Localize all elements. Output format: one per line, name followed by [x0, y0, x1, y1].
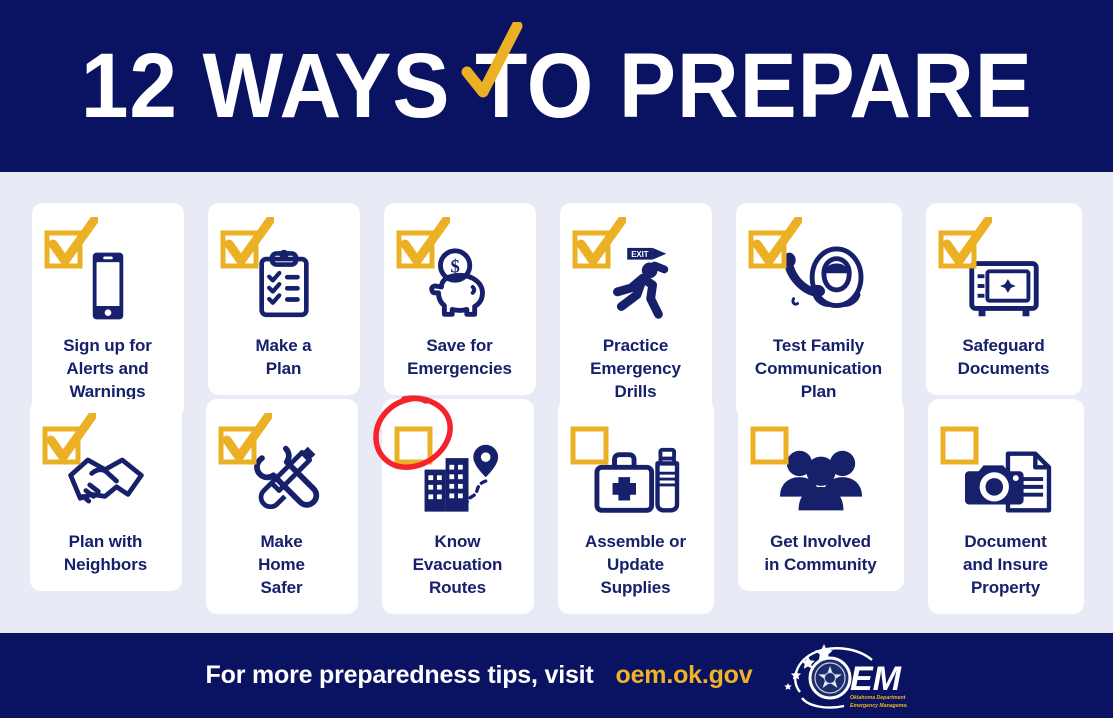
footer-banner: For more preparedness tips, visit oem.ok… — [0, 633, 1113, 718]
card-make-a-plan[interactable]: Make a Plan — [208, 203, 360, 395]
footer-url-link[interactable]: oem.ok.gov — [616, 661, 753, 690]
card-label: Make Home Safer — [258, 531, 305, 600]
card-label: Save for Emergencies — [407, 335, 512, 381]
cards-row-1: Sign up for Alerts and Warnings — [0, 203, 1113, 418]
cards-grid: Sign up for Alerts and Warnings — [0, 172, 1113, 633]
card-label: Document and Insure Property — [963, 531, 1048, 600]
phone-person-icon — [769, 243, 869, 329]
logo-tagline-2: Emergency Management — [850, 703, 907, 709]
card-label: Know Evacuation Routes — [413, 531, 503, 600]
card-sign-up-alerts[interactable]: Sign up for Alerts and Warnings — [32, 203, 184, 418]
svg-text:EM: EM — [850, 660, 902, 698]
card-save-for-emergencies[interactable]: $ Save for Emergencies — [384, 203, 536, 395]
card-plan-with-neighbors[interactable]: Plan with Neighbors — [30, 399, 182, 591]
handshake-icon — [63, 439, 149, 525]
header-banner: 12 WAYS TO PREPARE — [0, 0, 1113, 172]
card-document-insure-property[interactable]: Document and Insure Property — [928, 399, 1084, 614]
safe-vault-icon — [961, 243, 1047, 329]
card-assemble-supplies[interactable]: Assemble or Update Supplies — [558, 399, 714, 614]
card-label: Safeguard Documents — [958, 335, 1050, 381]
card-test-family-communication[interactable]: Test Family Communication Plan — [736, 203, 902, 418]
card-know-evacuation-routes[interactable]: Know Evacuation Routes — [382, 399, 534, 614]
footer-text: For more preparedness tips, visit — [206, 661, 594, 690]
page-title: 12 WAYS TO PREPARE — [45, 40, 1069, 132]
card-label: Make a Plan — [255, 335, 311, 381]
svg-text:EXIT: EXIT — [631, 250, 649, 259]
card-label: Practice Emergency Drills — [590, 335, 681, 404]
infographic-page: 12 WAYS TO PREPARE — [0, 0, 1113, 718]
card-safeguard-documents[interactable]: Safeguard Documents — [926, 203, 1082, 395]
cards-row-2: Plan with Neighbors Make Home Safer — [0, 399, 1113, 614]
group-of-people-icon — [773, 439, 869, 525]
first-aid-kit-water-bottle-icon — [588, 439, 684, 525]
buildings-map-pin-route-icon — [415, 439, 501, 525]
oem-logo: EM Oklahoma Department of Emergency Mana… — [782, 640, 907, 712]
card-practice-drills[interactable]: EXIT Practice Emergency Drills — [560, 203, 712, 418]
page-title-text: 12 WAYS TO PREPARE — [81, 40, 1033, 132]
card-make-home-safer[interactable]: Make Home Safer — [206, 399, 358, 614]
logo-tagline-1: Oklahoma Department of — [850, 695, 907, 701]
clipboard-checklist-icon — [241, 243, 327, 329]
card-label: Get Involved in Community — [764, 531, 876, 577]
running-person-exit-icon: EXIT — [593, 243, 679, 329]
camera-document-icon — [958, 439, 1054, 525]
card-label: Test Family Communication Plan — [755, 335, 882, 404]
card-label: Assemble or Update Supplies — [585, 531, 686, 600]
card-get-involved-community[interactable]: Get Involved in Community — [738, 399, 904, 591]
wrench-screwdriver-icon — [239, 439, 325, 525]
card-label: Sign up for Alerts and Warnings — [63, 335, 152, 404]
piggy-bank-icon: $ — [417, 243, 503, 329]
card-label: Plan with Neighbors — [64, 531, 147, 577]
smartphone-icon — [65, 243, 151, 329]
